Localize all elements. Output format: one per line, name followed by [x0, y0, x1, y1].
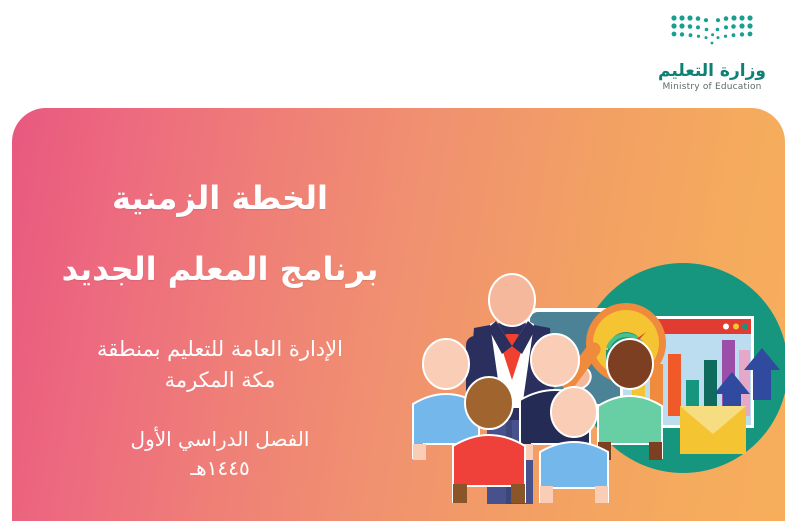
- term-line-2: ١٤٤٥هـ: [20, 454, 420, 483]
- page-title-line-1: الخطة الزمنية: [20, 180, 420, 217]
- slide-canvas: وزارة التعليم Ministry of Education الخط…: [0, 0, 796, 531]
- gradient-panel: الخطة الزمنية برنامج المعلم الجديد الإدا…: [12, 108, 785, 521]
- term-line-1: الفصل الدراسي الأول: [20, 425, 420, 454]
- ministry-palm-dots-icon: [662, 12, 762, 58]
- ministry-name-english: Ministry of Education: [642, 83, 782, 93]
- page-title-line-2: برنامج المعلم الجديد: [20, 251, 420, 288]
- text-column: الخطة الزمنية برنامج المعلم الجديد الإدا…: [20, 180, 420, 483]
- department-block: الإدارة العامة للتعليم بمنطقة مكة المكرم…: [20, 334, 420, 397]
- ministry-logo: وزارة التعليم Ministry of Education: [642, 12, 782, 93]
- classroom-illustration: [402, 168, 785, 521]
- ministry-name-arabic: وزارة التعليم: [642, 62, 782, 81]
- department-line-1: الإدارة العامة للتعليم بمنطقة: [20, 334, 420, 366]
- department-line-2: مكة المكرمة: [20, 365, 420, 397]
- envelope-icon: [680, 406, 746, 454]
- term-block: الفصل الدراسي الأول ١٤٤٥هـ: [20, 425, 420, 483]
